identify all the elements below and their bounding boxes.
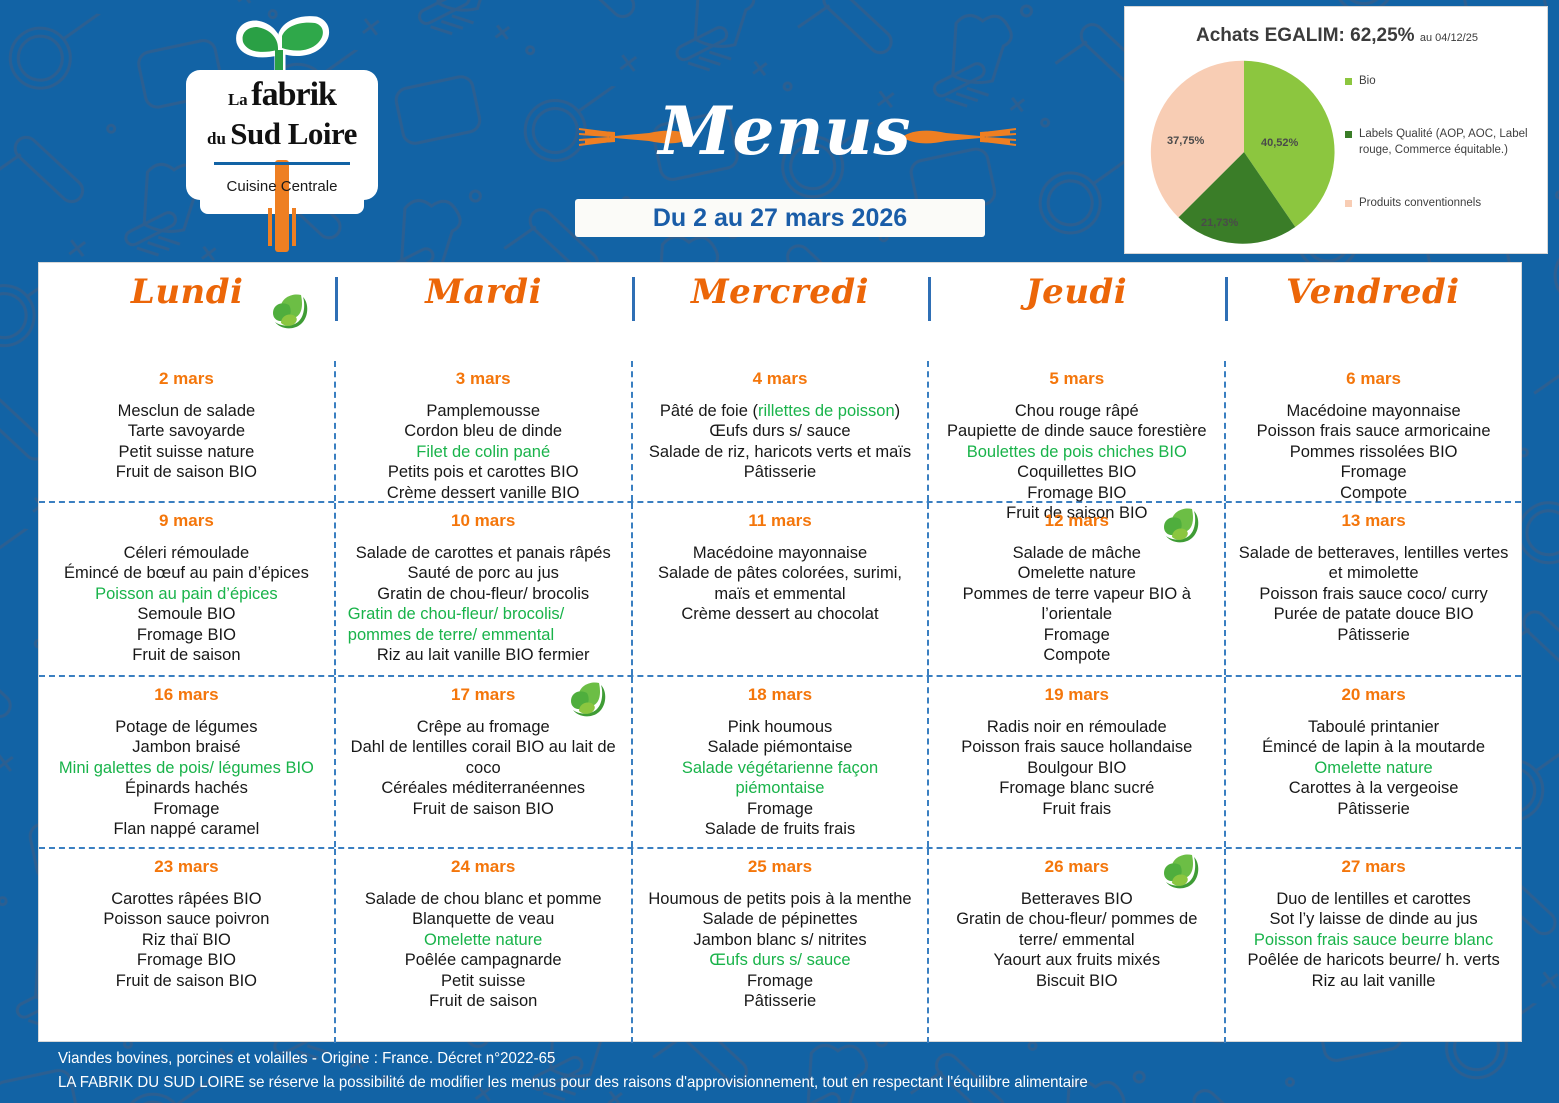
menu-day-cell: 27 marsDuo de lentilles et carottesSot l…	[1224, 849, 1521, 1043]
menu-dish: Chou rouge râpé	[941, 401, 1212, 421]
menu-day-cell: 18 marsPink houmousSalade piémontaiseSal…	[631, 677, 928, 847]
menu-dish-alternative: Omelette nature	[1238, 758, 1509, 778]
legend-item-labels-qualite: Labels Qualité (AOP, AOC, Label rouge, C…	[1345, 126, 1545, 159]
menu-dish: Duo de lentilles et carottes	[1238, 889, 1509, 909]
vegetarian-leaf-icon	[1162, 505, 1202, 545]
menu-day-cell: 3 marsPamplemousseCordon bleu de dindeFi…	[334, 361, 631, 501]
menu-date-label: 24 mars	[348, 857, 619, 877]
menu-dish-list: Pâté de foie (rillettes de poisson)Œufs …	[645, 401, 916, 483]
menu-day-cell: 23 marsCarottes râpées BIOPoisson sauce …	[39, 849, 334, 1043]
menu-dish-list: Macédoine mayonnaisePoisson frais sauce …	[1238, 401, 1509, 503]
legend-item-conventionnels: Produits conventionnels	[1345, 195, 1545, 212]
menu-dish-list: Mesclun de saladeTarte savoyardePetit su…	[51, 401, 322, 483]
logo-divider	[214, 162, 350, 165]
menu-date-label: 20 mars	[1238, 685, 1509, 705]
menu-day-cell: 25 marsHoumous de petits pois à la menth…	[631, 849, 928, 1043]
menu-dish-alternative: Boulettes de pois chiches BIO	[941, 442, 1212, 462]
menu-dish: Purée de patate douce BIO	[1238, 604, 1509, 624]
menu-dish: Fromage BIO	[51, 625, 322, 645]
logo-text-fabrik: fabrik	[251, 76, 336, 113]
menu-dish: Poêlée de haricots beurre/ h. verts	[1238, 950, 1509, 970]
menu-date-label: 27 mars	[1238, 857, 1509, 877]
menu-dish: Houmous de petits pois à la menthe	[645, 889, 916, 909]
menu-dish: Poisson frais sauce coco/ curry	[1238, 584, 1509, 604]
menu-dish: Fromage	[645, 971, 916, 991]
egalim-title-asof: au 04/12/25	[1420, 32, 1478, 44]
menu-dish-list: Houmous de petits pois à la mentheSalade…	[645, 889, 916, 1012]
menu-dish-list: Salade de betteraves, lentilles vertes e…	[1238, 543, 1509, 645]
menu-day-header-jeudi: Jeudi	[928, 263, 1224, 361]
menu-dish: Poisson sauce poivron	[51, 909, 322, 929]
menu-dish-list: Potage de légumesJambon braiséMini galet…	[51, 717, 322, 840]
page-title: Menus	[620, 86, 950, 176]
menu-dish: Riz thaï BIO	[51, 930, 322, 950]
menu-dish-list: Céleri rémouladeÉmincé de bœuf au pain d…	[51, 543, 322, 666]
menu-dish: Gratin de chou-fleur/ pommes de terre/ e…	[941, 909, 1212, 950]
menu-dish: Pommes rissolées BIO	[1238, 442, 1509, 462]
menu-dish: Fruit de saison	[51, 645, 322, 665]
menu-day-header-vendredi: Vendredi	[1225, 263, 1521, 361]
menu-day-cell: 6 marsMacédoine mayonnaisePoisson frais …	[1224, 361, 1521, 501]
menu-dish: Salade de riz, haricots verts et maïs	[645, 442, 916, 462]
menu-dish: Jambon blanc s/ nitrites	[645, 930, 916, 950]
menu-dish: Fruit de saison BIO	[51, 462, 322, 482]
menu-dish-alternative: Poisson frais sauce beurre blanc	[1238, 930, 1509, 950]
day-name-label: Mardi	[335, 263, 631, 314]
menu-day-cell: 26 marsBetteraves BIOGratin de chou-fleu…	[927, 849, 1224, 1043]
menu-dish: Poisson frais sauce armoricaine	[1238, 421, 1509, 441]
legend-item-bio: Bio	[1345, 73, 1545, 90]
day-name-label: Mercredi	[632, 263, 928, 314]
menu-dish: Salade de fruits frais	[645, 819, 916, 839]
menu-dish: Gratin de chou-fleur/ brocolis	[348, 584, 619, 604]
menu-date-label: 23 mars	[51, 857, 322, 877]
menu-dish: Omelette nature	[941, 563, 1212, 583]
egalim-title: Achats EGALIM: 62,25% au 04/12/25	[1125, 25, 1549, 47]
menu-dish: Pâté de foie (rillettes de poisson)	[645, 401, 916, 421]
menu-day-cell: 16 marsPotage de légumesJambon braiséMin…	[39, 677, 334, 847]
menu-dish: Cordon bleu de dinde	[348, 421, 619, 441]
menu-dish: Dahl de lentilles corail BIO au lait de …	[348, 737, 619, 778]
menu-dish: Flan nappé caramel	[51, 819, 322, 839]
menu-dish: Petit suisse	[348, 971, 619, 991]
menu-day-cell: 5 marsChou rouge râpéPaupiette de dinde …	[927, 361, 1224, 501]
menu-dish: Carottes râpées BIO	[51, 889, 322, 909]
menu-dish: Tarte savoyarde	[51, 421, 322, 441]
menu-dish: Taboulé printanier	[1238, 717, 1509, 737]
menu-dish: Salade de pâtes colorées, surimi, maïs e…	[645, 563, 916, 604]
menu-dish: Fromage BIO	[941, 483, 1212, 503]
vegetarian-leaf-icon	[1162, 851, 1202, 891]
menu-day-cell: 12 marsSalade de mâcheOmelette naturePom…	[927, 503, 1224, 675]
menu-dish: Petits pois et carottes BIO	[348, 462, 619, 482]
menu-dish: Salade de betteraves, lentilles vertes e…	[1238, 543, 1509, 584]
menu-day-cell: 20 marsTaboulé printanierÉmincé de lapin…	[1224, 677, 1521, 847]
menu-date-label: 3 mars	[348, 369, 619, 389]
egalim-legend: Bio Labels Qualité (AOP, AOC, Label roug…	[1345, 73, 1545, 248]
menu-dish-alternative: Omelette nature	[348, 930, 619, 950]
menu-dish: Salade de pépinettes	[645, 909, 916, 929]
menu-dish: Poisson frais sauce hollandaise	[941, 737, 1212, 757]
menu-week-row: 2 marsMesclun de saladeTarte savoyardePe…	[39, 361, 1521, 501]
menu-dish: Carottes à la vergeoise	[1238, 778, 1509, 798]
menu-dish: Crème dessert au chocolat	[645, 604, 916, 624]
menu-dish: Salade de chou blanc et pomme	[348, 889, 619, 909]
logo-text-sudloire: Sud Loire	[230, 116, 357, 151]
menu-dish: Paupiette de dinde sauce forestière	[941, 421, 1212, 441]
menu-dish-alternative: Filet de colin pané	[348, 442, 619, 462]
menu-dish-alternative-inline: rillettes de poisson	[758, 402, 895, 420]
menu-dish: Pâtisserie	[1238, 799, 1509, 819]
menu-date-label: 19 mars	[941, 685, 1212, 705]
menu-week-row: 9 marsCéleri rémouladeÉmincé de bœuf au …	[39, 501, 1521, 675]
menu-day-cell: 10 marsSalade de carottes et panais râpé…	[334, 503, 631, 675]
menu-date-label: 2 mars	[51, 369, 322, 389]
menu-day-cell: 2 marsMesclun de saladeTarte savoyardePe…	[39, 361, 334, 501]
menu-day-header-lundi: Lundi	[39, 263, 335, 361]
menu-dish-alternative: Poisson au pain d’épices	[51, 584, 322, 604]
vegetarian-leaf-icon	[569, 679, 609, 719]
pie-label-labels-qualite: 21,73%	[1201, 217, 1238, 229]
menu-day-cell: 24 marsSalade de chou blanc et pommeBlan…	[334, 849, 631, 1043]
menu-dish-list: PamplemousseCordon bleu de dindeFilet de…	[348, 401, 619, 503]
menu-dish: Yaourt aux fruits mixés	[941, 950, 1212, 970]
menu-dish-list: Macédoine mayonnaiseSalade de pâtes colo…	[645, 543, 916, 625]
pie-svg	[1149, 57, 1339, 247]
menu-day-cell: 19 marsRadis noir en rémouladePoisson fr…	[927, 677, 1224, 847]
brand-logo: La fabrik du Sud Loire Cuisine Centrale	[186, 12, 378, 252]
menu-dish: Mesclun de salade	[51, 401, 322, 421]
egalim-chart-card: Achats EGALIM: 62,25% au 04/12/25 40,52%…	[1124, 6, 1548, 254]
menu-dish: Fruit de saison	[348, 991, 619, 1011]
menu-dish-list: Salade de mâcheOmelette naturePommes de …	[941, 543, 1212, 666]
day-name-label: Jeudi	[928, 263, 1224, 314]
menu-day-header-mardi: Mardi	[335, 263, 631, 361]
fork-icon	[262, 160, 302, 252]
menu-dish: Fromage	[645, 799, 916, 819]
menu-dish: Pâtisserie	[645, 991, 916, 1011]
logo-text-line1: La fabrik	[186, 76, 378, 114]
menu-dish: Riz au lait vanille	[1238, 971, 1509, 991]
menu-dish: Fruit frais	[941, 799, 1212, 819]
legend-swatch-labels-qualite	[1345, 131, 1352, 138]
menu-date-label: 4 mars	[645, 369, 916, 389]
menu-dish: Poêlée campagnarde	[348, 950, 619, 970]
menu-table: LundiMardiMercrediJeudiVendredi 2 marsMe…	[38, 262, 1522, 1042]
menu-dish: Pommes de terre vapeur BIO à l’orientale	[941, 584, 1212, 625]
legend-label-conventionnels: Produits conventionnels	[1359, 195, 1481, 212]
menu-dish-list: Crêpe au fromageDahl de lentilles corail…	[348, 717, 619, 819]
menu-dish-inline: )	[895, 402, 901, 420]
menu-date-label: 11 mars	[645, 511, 916, 531]
menu-day-cell: 4 marsPâté de foie (rillettes de poisson…	[631, 361, 928, 501]
menu-day-cell: 11 marsMacédoine mayonnaiseSalade de pât…	[631, 503, 928, 675]
menu-dish: Macédoine mayonnaise	[645, 543, 916, 563]
menu-dish-alternative: Salade végétarienne façon piémontaise	[645, 758, 916, 799]
menu-dish-list: Duo de lentilles et carottesSot l’y lais…	[1238, 889, 1509, 991]
menu-dish: Pink houmous	[645, 717, 916, 737]
legend-label-bio: Bio	[1359, 73, 1376, 90]
menu-day-cell: 9 marsCéleri rémouladeÉmincé de bœuf au …	[39, 503, 334, 675]
menu-dish: Boulgour BIO	[941, 758, 1212, 778]
footer-line-disclaimer: LA FABRIK DU SUD LOIRE se réserve la pos…	[58, 1071, 1421, 1095]
menu-dish-list: Salade de carottes et panais râpésSauté …	[348, 543, 619, 666]
menu-dish: Céleri rémoulade	[51, 543, 322, 563]
logo-text-line2: du Sud Loire	[186, 116, 378, 152]
logo-text-la: La	[228, 90, 247, 109]
menu-dish: Riz au lait vanille BIO fermier	[348, 645, 619, 665]
menu-day-cell: 17 marsCrêpe au fromageDahl de lentilles…	[334, 677, 631, 847]
menu-dish: Radis noir en rémoulade	[941, 717, 1212, 737]
menu-dish-list: Carottes râpées BIOPoisson sauce poivron…	[51, 889, 322, 991]
egalim-pie-chart: 40,52% 21,73% 37,75%	[1149, 57, 1339, 247]
menu-dish-alternative: Gratin de chou-fleur/ brocolis/ pommes d…	[348, 604, 619, 645]
menu-week-row: 23 marsCarottes râpées BIOPoisson sauce …	[39, 847, 1521, 1043]
menu-dish: Épinards hachés	[51, 778, 322, 798]
menu-dish: Blanquette de veau	[348, 909, 619, 929]
menu-day-cell: 13 marsSalade de betteraves, lentilles v…	[1224, 503, 1521, 675]
menu-dish: Fruit de saison BIO	[51, 971, 322, 991]
menu-dish-inline: Pâté de foie (	[660, 402, 758, 420]
footer-notes: Viandes bovines, porcines et volailles -…	[58, 1047, 1421, 1095]
menu-dish-list: Taboulé printanierÉmincé de lapin à la m…	[1238, 717, 1509, 819]
menu-dish: Pâtisserie	[645, 462, 916, 482]
menu-dish-list: Betteraves BIOGratin de chou-fleur/ pomm…	[941, 889, 1212, 991]
menu-table-header-row: LundiMardiMercrediJeudiVendredi	[39, 263, 1521, 361]
menu-date-label: 25 mars	[645, 857, 916, 877]
menu-day-header-mercredi: Mercredi	[632, 263, 928, 361]
menu-dish: Sot l’y laisse de dinde au jus	[1238, 909, 1509, 929]
menu-dish-alternative: Œufs durs s/ sauce	[645, 950, 916, 970]
menu-dish: Petit suisse nature	[51, 442, 322, 462]
menu-dish: Émincé de bœuf au pain d’épices	[51, 563, 322, 583]
menu-date-label: 13 mars	[1238, 511, 1509, 531]
footer-line-origin: Viandes bovines, porcines et volailles -…	[58, 1047, 1421, 1071]
menu-date-label: 18 mars	[645, 685, 916, 705]
menu-dish: Macédoine mayonnaise	[1238, 401, 1509, 421]
menu-dish: Salade de carottes et panais râpés	[348, 543, 619, 563]
menu-dish: Fromage	[1238, 462, 1509, 482]
menu-date-label: 6 mars	[1238, 369, 1509, 389]
vegetarian-leaf-icon	[271, 291, 311, 331]
menu-dish-list: Radis noir en rémouladePoisson frais sau…	[941, 717, 1212, 819]
menu-dish: Fruit de saison BIO	[348, 799, 619, 819]
menu-week-row: 16 marsPotage de légumesJambon braiséMin…	[39, 675, 1521, 847]
logo-text-du: du	[207, 129, 226, 148]
menu-dish: Compote	[941, 645, 1212, 665]
menu-dish: Fromage blanc sucré	[941, 778, 1212, 798]
day-name-label: Vendredi	[1225, 263, 1521, 314]
menu-dish: Semoule BIO	[51, 604, 322, 624]
menu-dish: Œufs durs s/ sauce	[645, 421, 916, 441]
menu-dish: Céréales méditerranéennes	[348, 778, 619, 798]
menu-dish: Crème dessert vanille BIO	[348, 483, 619, 503]
egalim-title-main: Achats EGALIM: 62,25%	[1196, 25, 1415, 46]
legend-label-labels-qualite: Labels Qualité (AOP, AOC, Label rouge, C…	[1359, 126, 1545, 159]
menu-dish: Crêpe au fromage	[348, 717, 619, 737]
menu-dish: Salade de mâche	[941, 543, 1212, 563]
menu-dish-alternative: Mini galettes de pois/ légumes BIO	[51, 758, 322, 778]
menu-dish: Fromage BIO	[51, 950, 322, 970]
menu-dish: Émincé de lapin à la moutarde	[1238, 737, 1509, 757]
logo-text-cuisine-centrale: Cuisine Centrale	[186, 178, 378, 195]
menu-dish: Betteraves BIO	[941, 889, 1212, 909]
menu-dish: Sauté de porc au jus	[348, 563, 619, 583]
menu-dish-list: Pink houmousSalade piémontaiseSalade vég…	[645, 717, 916, 840]
menu-dish: Biscuit BIO	[941, 971, 1212, 991]
menu-dish: Jambon braisé	[51, 737, 322, 757]
legend-swatch-bio	[1345, 78, 1352, 85]
menu-dish: Fromage	[941, 625, 1212, 645]
menu-dish: Potage de légumes	[51, 717, 322, 737]
menu-date-label: 9 mars	[51, 511, 322, 531]
menu-dish-list: Salade de chou blanc et pommeBlanquette …	[348, 889, 619, 1012]
menu-dish: Pâtisserie	[1238, 625, 1509, 645]
pie-label-bio: 40,52%	[1261, 137, 1298, 149]
menu-date-label: 10 mars	[348, 511, 619, 531]
menu-dish: Salade piémontaise	[645, 737, 916, 757]
menu-dish: Pamplemousse	[348, 401, 619, 421]
menu-dish: Coquillettes BIO	[941, 462, 1212, 482]
date-range-banner: Du 2 au 27 mars 2026	[575, 199, 985, 237]
pie-label-conventionnels: 37,75%	[1167, 135, 1204, 147]
legend-swatch-conventionnels	[1345, 200, 1352, 207]
menu-dish: Fromage	[51, 799, 322, 819]
menu-date-label: 16 mars	[51, 685, 322, 705]
menu-date-label: 5 mars	[941, 369, 1212, 389]
menu-dish: Compote	[1238, 483, 1509, 503]
